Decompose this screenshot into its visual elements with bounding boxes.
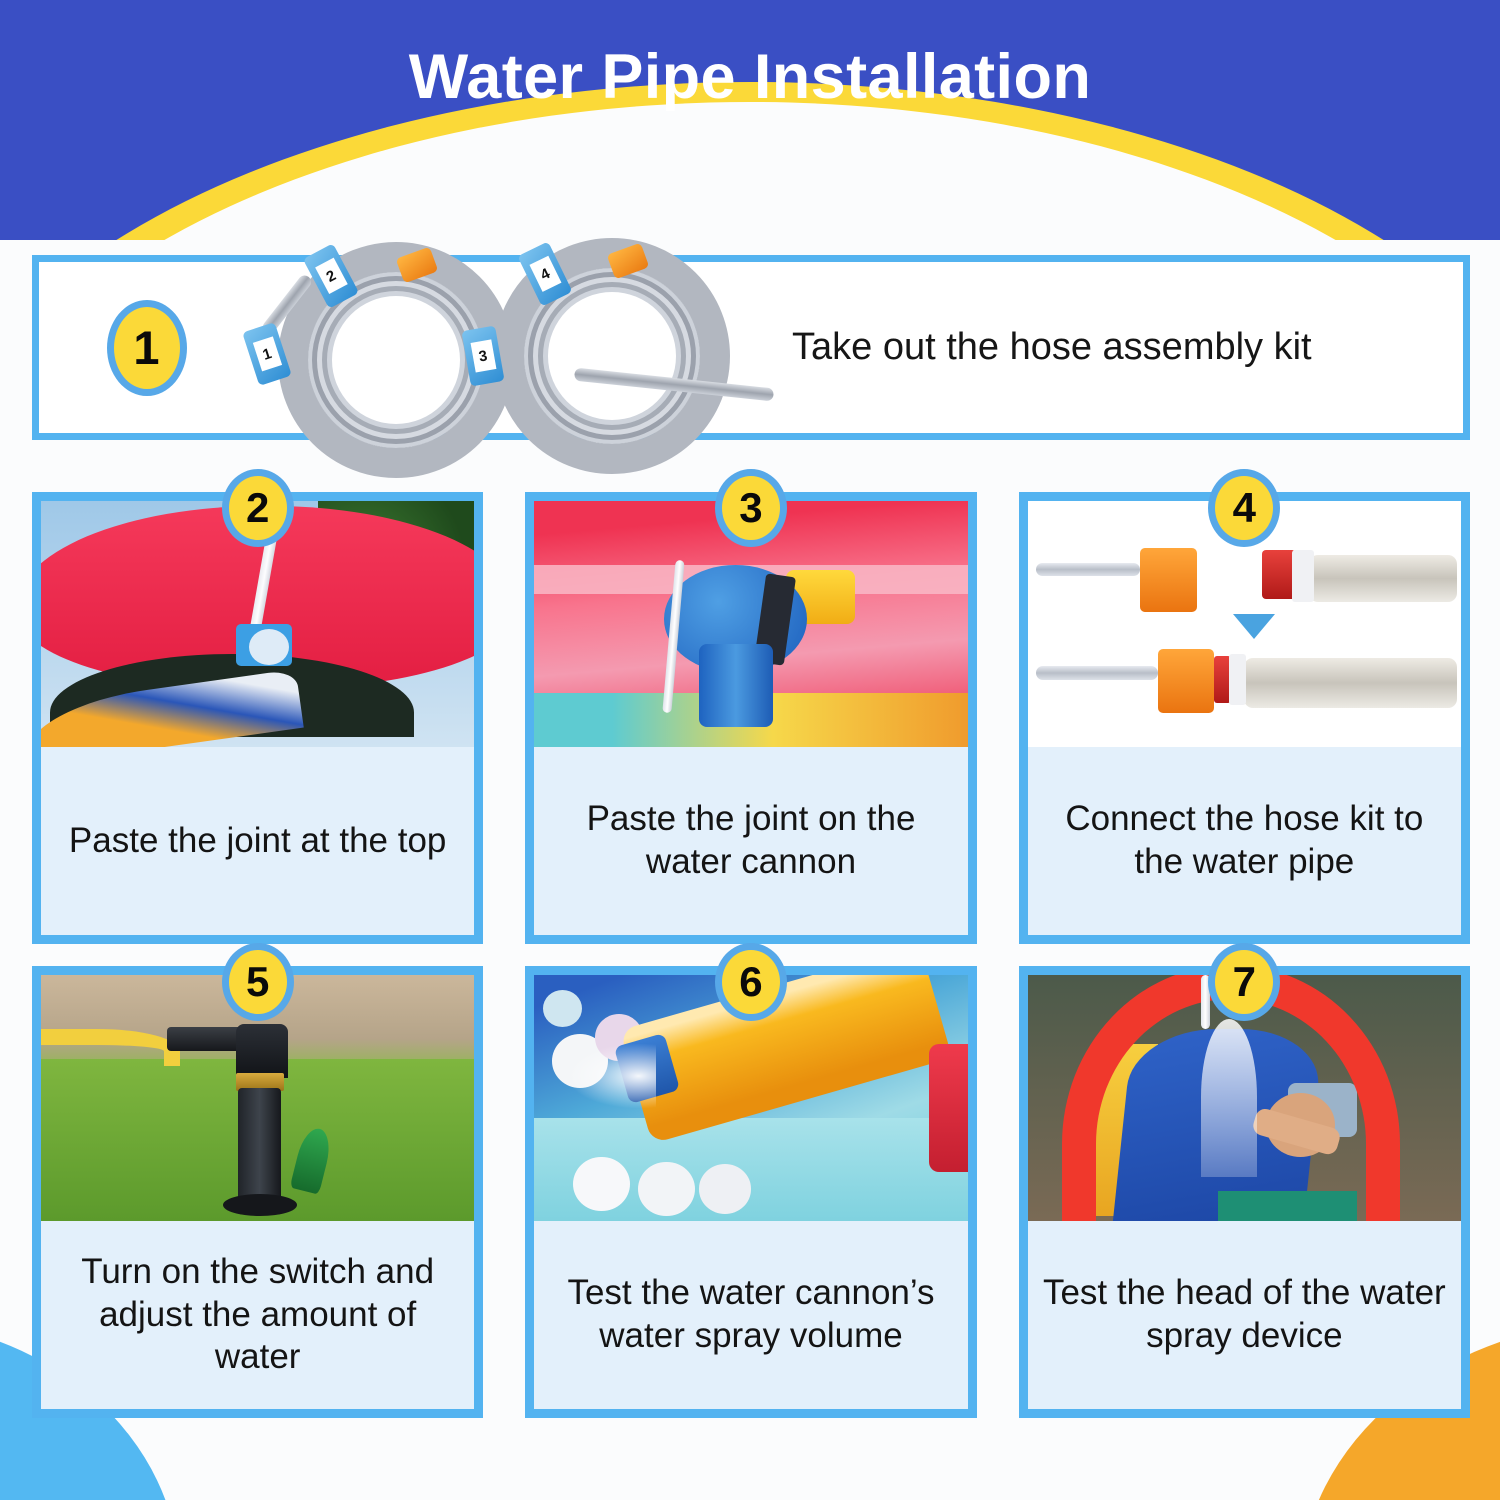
- step-2-badge: 2: [222, 469, 294, 547]
- hose-assembly-kit-illustration: 1 2 3 4: [244, 190, 784, 445]
- red-inflatable-edge: [929, 1044, 968, 1172]
- hose-label-text-2: 2: [315, 258, 348, 294]
- white-collar-top: [1292, 550, 1314, 602]
- elbow-fitting: [236, 1024, 288, 1078]
- step-4-badge: 4: [1208, 469, 1280, 547]
- clear-hose-bottom: [1036, 666, 1157, 680]
- white-collar-bottom: [1229, 654, 1246, 706]
- orange-fitting-bottom: [1158, 649, 1214, 713]
- step-card-6: 6 Test the water cannon’s water spray vo…: [525, 966, 976, 1418]
- play-ball: [573, 1157, 629, 1211]
- cannon-neck: [699, 644, 773, 728]
- step-5-caption: Turn on the switch and adjust the amount…: [41, 1221, 474, 1409]
- step-7-badge: 7: [1208, 943, 1280, 1021]
- page-title: Water Pipe Installation: [0, 44, 1500, 110]
- down-arrow-icon: [1233, 614, 1275, 639]
- step-4-caption: Connect the hose kit to the water pipe: [1028, 747, 1461, 935]
- step-1-badge-wrap: 1: [39, 300, 254, 396]
- spigot-body: [238, 1088, 281, 1201]
- step-6-badge: 6: [715, 943, 787, 1021]
- water-spray: [569, 1044, 656, 1108]
- step-3-caption: Paste the joint on the water cannon: [534, 747, 967, 935]
- infographic-page: Water Pipe Installation 1 1 2 3 4 Take o…: [0, 0, 1500, 1500]
- steps-grid: 2 Paste the joint at the top 3: [32, 492, 1470, 1418]
- step-card-2: 2 Paste the joint at the top: [32, 492, 483, 944]
- step-3-badge: 3: [715, 469, 787, 547]
- step-2-caption: Paste the joint at the top: [41, 747, 474, 935]
- water-spray-stream: [1201, 1019, 1257, 1176]
- step-1-badge: 1: [107, 300, 187, 396]
- hose-label-text-3: 3: [470, 339, 496, 372]
- joint-nozzle: [249, 629, 289, 665]
- spigot-base: [223, 1194, 297, 1216]
- grey-water-pipe-top: [1309, 555, 1456, 602]
- grey-water-pipe-bottom: [1244, 658, 1456, 707]
- hose-coupler: [167, 1027, 245, 1052]
- clear-hose-top: [1036, 563, 1140, 576]
- step-card-5: 5 Turn on the switch and adjust the amou…: [32, 966, 483, 1418]
- step-1-photo: 1 2 3 4: [254, 262, 774, 433]
- step-7-caption: Test the head of the water spray device: [1028, 1221, 1461, 1409]
- step-1-caption: Take out the hose assembly kit: [774, 322, 1463, 372]
- hose-label-text-4: 4: [529, 256, 561, 292]
- orange-fitting-top: [1140, 548, 1196, 612]
- step-5-badge: 5: [222, 943, 294, 1021]
- step-card-7: 7 Test the head of the water spray devic…: [1019, 966, 1470, 1418]
- hose-label-text-1: 1: [252, 336, 281, 371]
- play-ball: [543, 990, 582, 1027]
- step-6-caption: Test the water cannon’s water spray volu…: [534, 1221, 967, 1409]
- step-card-3: 3 Paste the joint on the water cannon: [525, 492, 976, 944]
- play-ball: [638, 1162, 694, 1216]
- step-card-4: 4 Connect the hose kit to the water pipe: [1019, 492, 1470, 944]
- step-1-card: 1 1 2 3 4 Take out the hose assembly kit: [32, 255, 1470, 440]
- play-ball: [699, 1164, 751, 1213]
